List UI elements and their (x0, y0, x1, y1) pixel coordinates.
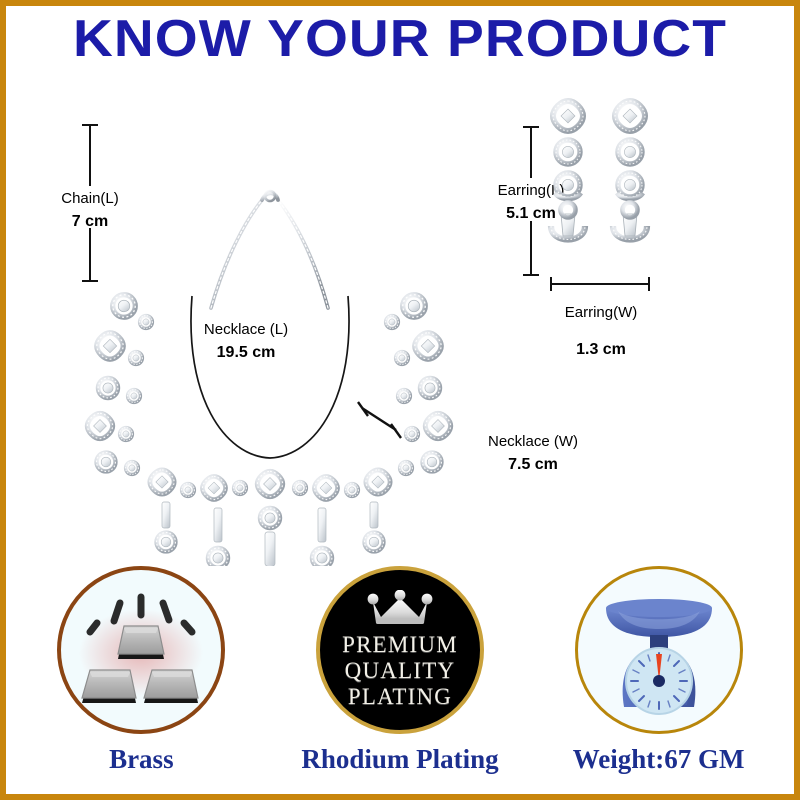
earring-width-line (550, 283, 650, 285)
plating-badge-circle: PREMIUM QUALITY PLATING (316, 566, 484, 734)
page-title: KNOW YOUR PRODUCT (0, 10, 800, 68)
infographic-page: KNOW YOUR PRODUCT Chain(L) 7 cm (0, 0, 800, 800)
necklace-left-arm (87, 295, 152, 475)
plating-badge-label: Rhodium Plating (301, 744, 498, 775)
feature-badges: Brass (12, 566, 788, 786)
earring-width-cap-right (648, 277, 650, 291)
necklace-width-title: Necklace (W) (488, 433, 578, 450)
metal-ingots-icon (66, 575, 216, 725)
earring-svg (526, 94, 676, 289)
necklace-fringe (157, 502, 384, 566)
necklace-garland (150, 470, 390, 500)
necklace-width-label: Necklace (W) 7.5 cm (438, 431, 628, 476)
seal-line-2: QUALITY (342, 658, 458, 684)
earring-left (551, 101, 585, 240)
badge-weight: Weight:67 GM (544, 566, 774, 775)
kitchen-scale-icon (584, 575, 734, 725)
necklace-length-label: Necklace (L) 19.5 cm (156, 319, 336, 364)
earring-image (526, 94, 676, 289)
earring-width-label: Earring(W) 1.3 cm (518, 302, 684, 361)
weight-badge-circle (575, 566, 743, 734)
necklace-width-arrow (358, 402, 401, 438)
earring-width-value: 1.3 cm (518, 338, 684, 361)
badge-brass: Brass (26, 566, 256, 775)
necklace-chain (211, 191, 328, 308)
necklace-width-value: 7.5 cm (438, 453, 628, 476)
necklace-length-value: 19.5 cm (156, 341, 336, 364)
earring-right (613, 101, 647, 240)
premium-seal: PREMIUM QUALITY PLATING (342, 590, 458, 709)
weight-badge-label: Weight:67 GM (573, 744, 745, 775)
brass-badge-circle (57, 566, 225, 734)
seal-line-3: PLATING (342, 684, 458, 710)
seal-line-1: PREMIUM (342, 632, 458, 658)
necklace-length-title: Necklace (L) (204, 321, 288, 338)
earring-width-title: Earring(W) (565, 304, 638, 321)
badge-plating: PREMIUM QUALITY PLATING Rhodium Plating (285, 566, 515, 775)
crown-icon (367, 590, 433, 626)
brass-badge-label: Brass (109, 744, 174, 775)
earring-width-cap-left (550, 277, 552, 291)
